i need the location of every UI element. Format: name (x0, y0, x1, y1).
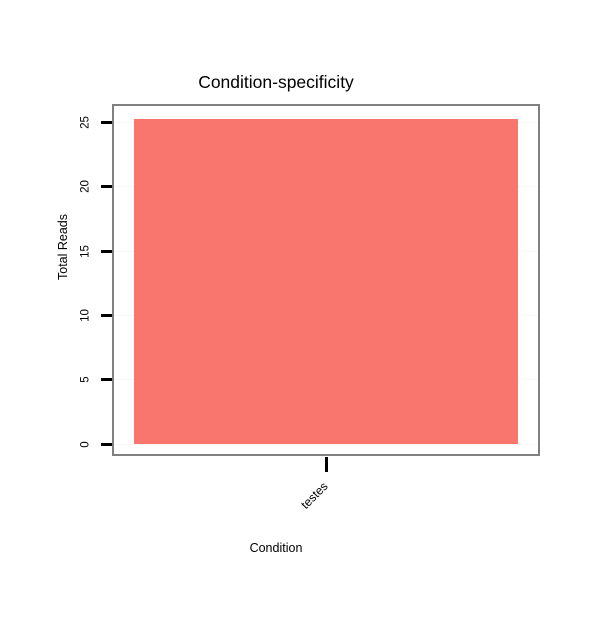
y-tick-label-0: 0 (80, 431, 93, 457)
y-tick-15 (101, 250, 112, 253)
bar-testes (134, 119, 518, 444)
y-axis-title: Total Reads (56, 214, 70, 280)
chart-title: Condition-specificity (0, 72, 600, 92)
y-tick-label-20: 20 (80, 174, 93, 200)
bar-chart-figure: Condition-specificity 0510152025 Total R… (0, 0, 600, 600)
y-tick-label-5: 5 (80, 367, 93, 393)
bars-layer (114, 106, 538, 454)
plot-panel (112, 104, 540, 456)
y-tick-5 (101, 378, 112, 381)
chart-title-text: Condition-specificity (198, 72, 354, 92)
y-tick-0 (101, 443, 112, 446)
y-tick-25 (101, 121, 112, 124)
y-tick-20 (101, 185, 112, 188)
y-tick-label-10: 10 (80, 302, 93, 328)
x-axis-title-text: Condition (250, 541, 303, 555)
x-tick-testes (325, 457, 328, 472)
y-tick-10 (101, 314, 112, 317)
y-tick-label-25: 25 (80, 110, 93, 136)
x-axis-title: Condition (0, 541, 600, 555)
y-tick-label-15: 15 (80, 238, 93, 264)
